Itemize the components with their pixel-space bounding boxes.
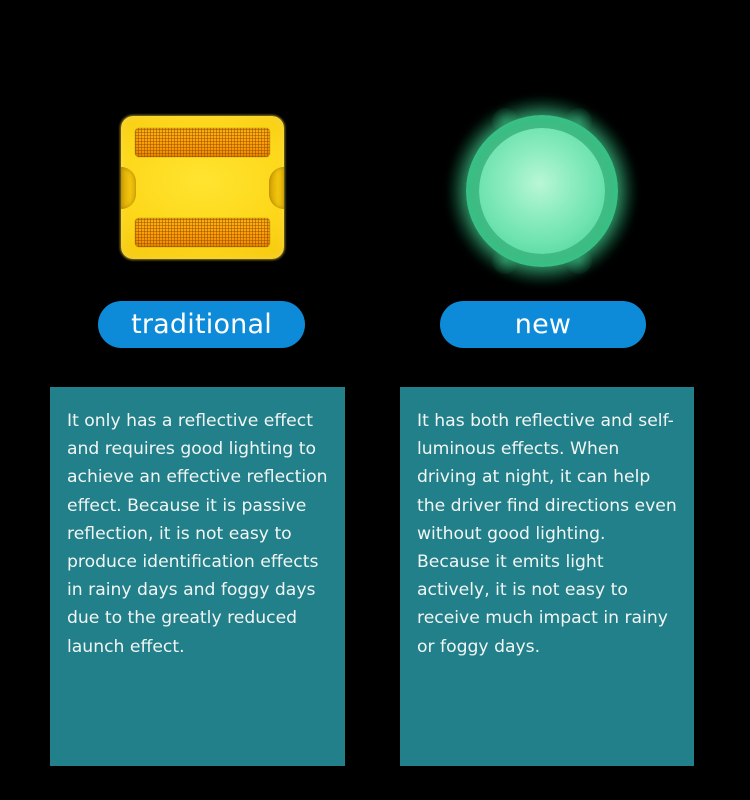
comparison-stage: traditional It only has a reflective eff…	[0, 0, 750, 800]
label-pill-traditional[interactable]: traditional	[98, 301, 305, 348]
label-pill-new[interactable]: new	[440, 301, 646, 348]
green-road-stud-lens	[479, 128, 605, 254]
reflector-strip-bottom-icon	[135, 218, 270, 247]
description-text-new: It has both reflective and self-luminous…	[417, 407, 677, 661]
label-pill-new-text: new	[515, 309, 571, 340]
description-panel-traditional: It only has a reflective effect and requ…	[50, 387, 345, 766]
label-pill-traditional-text: traditional	[131, 309, 272, 340]
description-text-traditional: It only has a reflective effect and requ…	[67, 407, 328, 661]
green-road-stud-rim	[466, 115, 618, 267]
traditional-product-image	[110, 105, 296, 270]
new-product-image	[442, 100, 642, 282]
description-panel-new: It has both reflective and self-luminous…	[400, 387, 694, 766]
yellow-road-stud-body	[121, 116, 284, 259]
reflector-strip-top-icon	[135, 128, 270, 157]
